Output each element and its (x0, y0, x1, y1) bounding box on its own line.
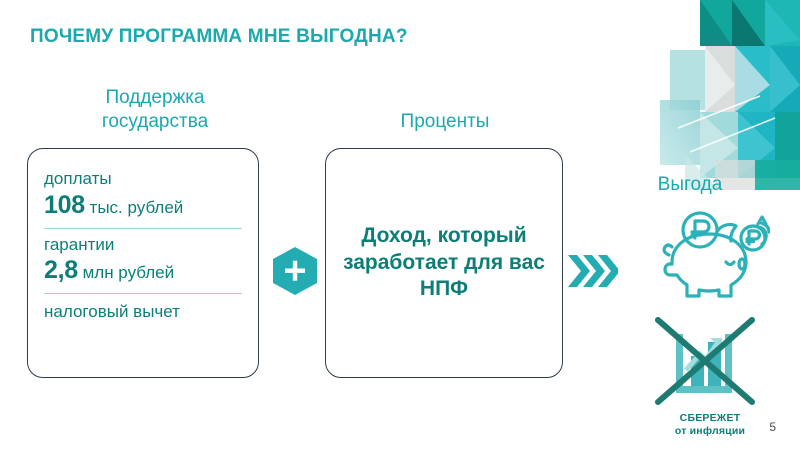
benefit-value: 2,8 млн рублей (44, 255, 242, 285)
slide-canvas: ПОЧЕМУ ПРОГРАММА МНЕ ВЫГОДНА? Поддержка … (0, 0, 800, 450)
page-title: ПОЧЕМУ ПРОГРАММА МНЕ ВЫГОДНА? (30, 26, 408, 48)
column-caption-middle: Проценты (330, 110, 560, 134)
benefit-unit: тыс. рублей (90, 198, 184, 217)
benefit-label: гарантии (44, 235, 242, 255)
benefit-row: налоговый вычет (44, 293, 242, 330)
column-caption-left: Поддержка государства (60, 86, 250, 134)
benefit-amount: 2,8 (44, 256, 78, 284)
benefit-amount: 108 (44, 191, 85, 219)
npf-income-card: Доход, который заработает для вас НПФ (325, 148, 563, 378)
inflation-caption-line1: СБЕРЕЖЕТ (640, 412, 780, 425)
inflation-caption: СБЕРЕЖЕТ от инфляции (640, 412, 780, 439)
piggy-bank-ruble-icon (652, 200, 770, 305)
column-caption-right: Выгода (620, 173, 760, 197)
benefit-row: доплаты 108 тыс. рублей (44, 163, 242, 228)
plus-operator-hexagon (272, 246, 318, 296)
inflation-caption-line2: от инфляции (640, 425, 780, 438)
geometric-mosaic-decoration (660, 0, 800, 190)
benefit-label: доплаты (44, 169, 242, 189)
npf-income-text: Доход, который заработает для вас НПФ (326, 223, 562, 304)
benefit-value: 108 тыс. рублей (44, 190, 242, 220)
chevrons-right-icon (568, 250, 618, 292)
state-support-card: доплаты 108 тыс. рублей гарантии 2,8 млн… (27, 148, 259, 378)
crossed-out-growth-chart-icon (648, 312, 773, 412)
benefit-unit: млн рублей (83, 263, 175, 282)
page-number: 5 (769, 420, 776, 434)
benefit-row: гарантии 2,8 млн рублей (44, 228, 242, 294)
benefit-label: налоговый вычет (44, 300, 242, 322)
